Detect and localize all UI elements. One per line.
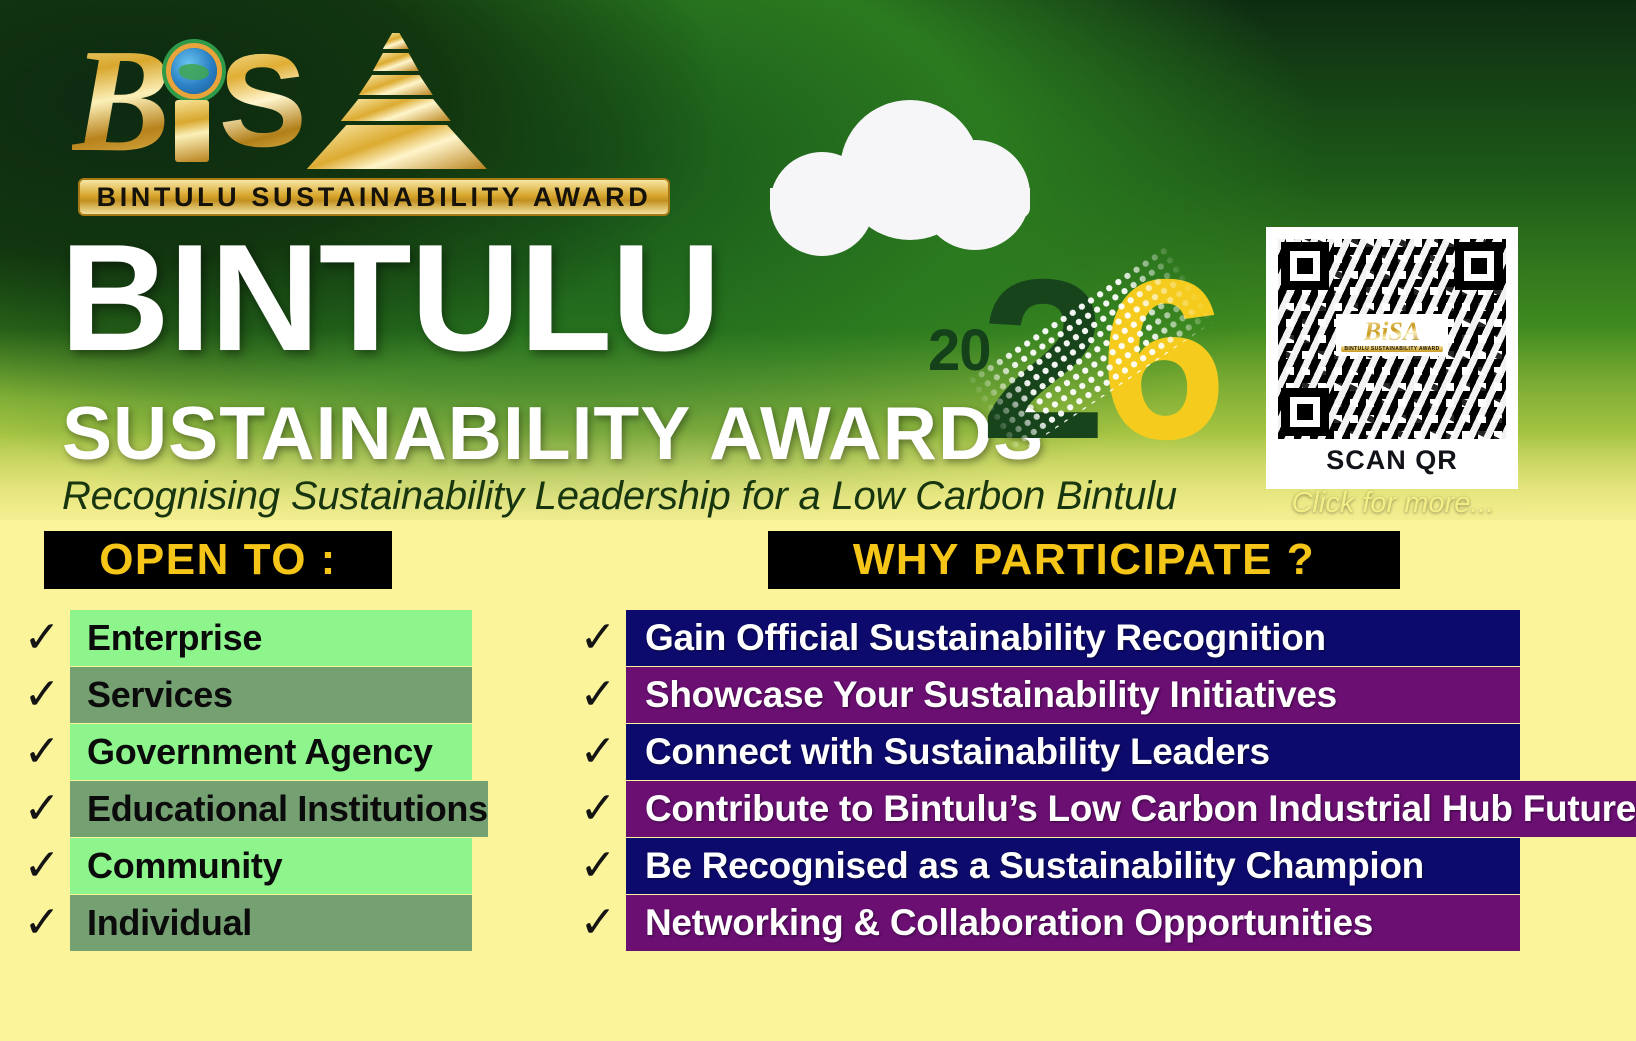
qr-embedded-logo: BiSA BINTULU SUSTAINABILITY AWARD [1336,314,1448,356]
qr-logo-sub-text: BINTULU SUSTAINABILITY AWARD [1341,346,1442,352]
section-header-open-to-label: OPEN TO : [99,535,337,585]
why-participate-item-pill: Gain Official Sustainability Recognition [626,610,1520,666]
list-item[interactable]: ✓Enterprise [14,610,472,666]
open-to-item-pill: Services [70,667,472,723]
check-icon: ✓ [14,616,70,660]
why-participate-item-label: Connect with Sustainability Leaders [645,731,1270,773]
open-to-item-pill: Enterprise [70,610,472,666]
list-item[interactable]: ✓Showcase Your Sustainability Initiative… [570,667,1520,723]
why-participate-item-label: Contribute to Bintulu’s Low Carbon Indus… [645,788,1636,830]
tower-icon [307,31,487,171]
check-icon: ✓ [570,616,626,660]
check-icon: ✓ [570,901,626,945]
bisa-logo-mark: B S [72,26,672,176]
check-icon: ✓ [14,844,70,888]
list-item[interactable]: ✓Services [14,667,472,723]
section-header-why-participate: WHY PARTICIPATE ? [768,531,1400,589]
logo-letter-s: S [219,35,303,167]
poster-canvas: B S BINTULU SUSTAINABILITY AWARD BINTULU… [0,0,1636,1041]
why-participate-item-label: Be Recognised as a Sustainability Champi… [645,845,1424,887]
open-to-item-label: Educational Institutions [87,788,488,830]
list-item[interactable]: ✓Be Recognised as a Sustainability Champ… [570,838,1520,894]
why-participate-item-label: Networking & Collaboration Opportunities [645,902,1373,944]
why-participate-item-pill: Networking & Collaboration Opportunities [626,895,1520,951]
qr-caption: SCAN QR [1278,445,1506,476]
check-icon: ✓ [14,673,70,717]
logo-i-stem [175,100,209,162]
logo-letter-i [165,26,219,176]
list-item[interactable]: ✓Individual [14,895,472,951]
page-subtitle: SUSTAINABILITY AWARDS [62,396,1044,471]
year-graphic: 2 6 20 [918,238,1218,498]
list-item[interactable]: ✓Contribute to Bintulu’s Low Carbon Indu… [570,781,1520,837]
open-to-list: ✓Enterprise✓Services✓Government Agency✓E… [14,610,472,952]
check-icon: ✓ [14,730,70,774]
qr-code-card[interactable]: BiSA BINTULU SUSTAINABILITY AWARD SCAN Q… [1266,227,1518,489]
qr-finder-icon [1455,242,1503,290]
open-to-item-label: Government Agency [87,731,433,773]
section-header-why-participate-label: WHY PARTICIPATE ? [853,535,1315,585]
qr-code-image[interactable]: BiSA BINTULU SUSTAINABILITY AWARD [1278,239,1506,439]
open-to-item-label: Community [87,845,282,887]
list-item[interactable]: ✓Educational Institutions [14,781,472,837]
open-to-item-pill: Government Agency [70,724,472,780]
year-prefix: 20 [928,322,991,380]
why-participate-item-pill: Contribute to Bintulu’s Low Carbon Indus… [626,781,1636,837]
check-icon: ✓ [14,901,70,945]
cloud-icon [770,100,1030,210]
open-to-item-pill: Individual [70,895,472,951]
list-item[interactable]: ✓Gain Official Sustainability Recognitio… [570,610,1520,666]
logo-letter-b: B [72,27,171,175]
why-participate-item-pill: Showcase Your Sustainability Initiatives [626,667,1520,723]
why-participate-item-label: Gain Official Sustainability Recognition [645,617,1326,659]
open-to-item-label: Services [87,674,233,716]
why-participate-item-pill: Connect with Sustainability Leaders [626,724,1520,780]
qr-logo-mark-text: BiSA [1364,319,1420,345]
check-icon: ✓ [570,787,626,831]
logo-banner: BINTULU SUSTAINABILITY AWARD [78,178,670,216]
section-header-open-to: OPEN TO : [44,531,392,589]
list-item[interactable]: ✓Government Agency [14,724,472,780]
click-for-more-link[interactable]: Click for more... [1264,487,1522,520]
why-participate-item-pill: Be Recognised as a Sustainability Champi… [626,838,1520,894]
check-icon: ✓ [570,730,626,774]
open-to-item-pill: Community [70,838,472,894]
page-title: BINTULU [60,222,720,374]
check-icon: ✓ [14,787,70,831]
check-icon: ✓ [570,673,626,717]
list-item[interactable]: ✓Connect with Sustainability Leaders [570,724,1520,780]
qr-finder-icon [1281,242,1329,290]
bisa-logo[interactable]: B S BINTULU SUSTAINABILITY AWARD [72,26,672,216]
list-item[interactable]: ✓Networking & Collaboration Opportunitie… [570,895,1520,951]
open-to-item-label: Individual [87,902,252,944]
check-icon: ✓ [570,844,626,888]
open-to-item-label: Enterprise [87,617,262,659]
logo-banner-text: BINTULU SUSTAINABILITY AWARD [97,182,652,213]
list-item[interactable]: ✓Community [14,838,472,894]
qr-finder-icon [1281,388,1329,436]
open-to-item-pill: Educational Institutions [70,781,488,837]
why-participate-list: ✓Gain Official Sustainability Recognitio… [570,610,1520,952]
why-participate-item-label: Showcase Your Sustainability Initiatives [645,674,1337,716]
globe-icon [171,48,217,94]
